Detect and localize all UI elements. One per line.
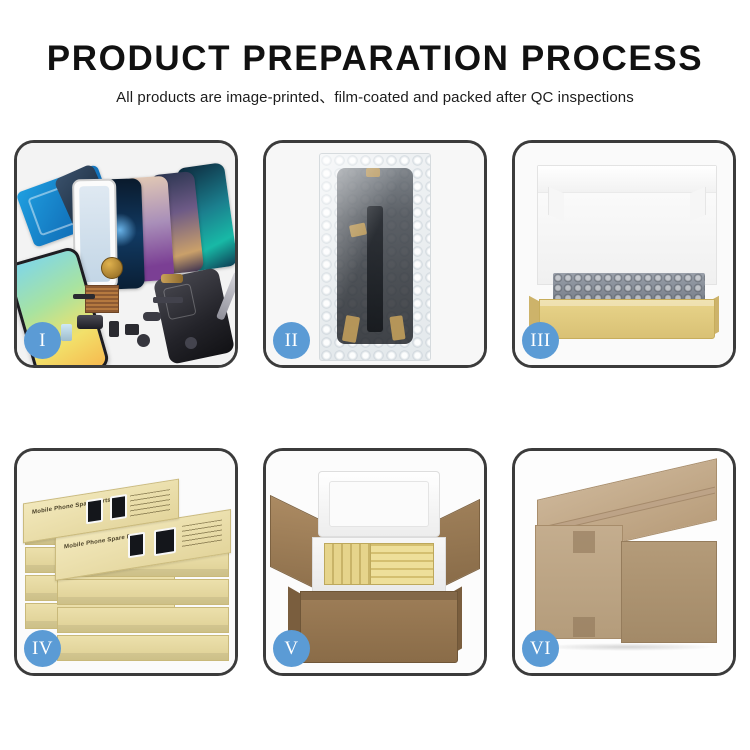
process-step-panel-6: VI (512, 448, 736, 676)
packed-boxes-icon (370, 543, 434, 585)
carton-face-right-icon (621, 541, 717, 643)
process-step-grid: I II (14, 140, 736, 676)
step-badge-3: III (522, 322, 559, 359)
box-product-image (110, 494, 127, 521)
retail-box-edge (57, 579, 229, 605)
step-badge-4: IV (24, 630, 61, 667)
connector-icon (161, 274, 183, 283)
carton-shadow (539, 643, 715, 651)
step-badge-6: VI (522, 630, 559, 667)
speaker-module-icon (101, 257, 123, 279)
small-part-icon (125, 324, 139, 335)
small-part-icon (61, 324, 72, 341)
page-title: PRODUCT PREPARATION PROCESS (0, 38, 750, 80)
foam-lid-icon (318, 471, 440, 537)
small-part-icon (109, 321, 119, 337)
step-badge-1: I (24, 322, 61, 359)
process-step-panel-5: V (263, 448, 487, 676)
retail-box-edge (57, 635, 229, 661)
bubble-wrap-bag-icon (319, 153, 431, 361)
page-header: PRODUCT PREPARATION PROCESS All products… (0, 38, 750, 108)
box-spec-lines (130, 489, 170, 519)
box-product-image (86, 498, 103, 525)
process-step-panel-4: Mobile Phone Spare Parts Mobile Phone Sp… (14, 448, 238, 676)
box-product-image (128, 532, 145, 559)
flex-cable-icon (153, 297, 183, 303)
carton-front-icon (300, 591, 458, 663)
small-part-icon (73, 294, 95, 299)
step-badge-2: II (273, 322, 310, 359)
page-subtitle: All products are image-printed、film-coat… (0, 88, 750, 108)
small-part-icon (137, 334, 150, 347)
flex-cable-icon (367, 206, 383, 332)
retail-box-edge (57, 607, 229, 633)
small-part-icon (77, 315, 103, 329)
box-spec-lines (182, 519, 222, 549)
step-badge-5: V (273, 630, 310, 667)
carton-tab-icon (573, 531, 595, 553)
small-part-icon (185, 337, 197, 349)
foam-lid-icon (537, 165, 717, 285)
process-step-panel-2: II (263, 140, 487, 368)
box-product-image (154, 527, 176, 556)
product-preparation-page: PRODUCT PREPARATION PROCESS All products… (0, 0, 750, 750)
process-step-panel-3: III (512, 140, 736, 368)
kraft-box-tray-icon (539, 299, 715, 339)
carton-tab-icon (573, 617, 595, 637)
tape-icon (366, 168, 380, 177)
lid-flap-right-icon (690, 187, 706, 221)
chip-icon (85, 285, 119, 313)
lid-flap-left-icon (548, 187, 564, 221)
process-step-panel-1: I (14, 140, 238, 368)
small-part-icon (143, 312, 161, 321)
